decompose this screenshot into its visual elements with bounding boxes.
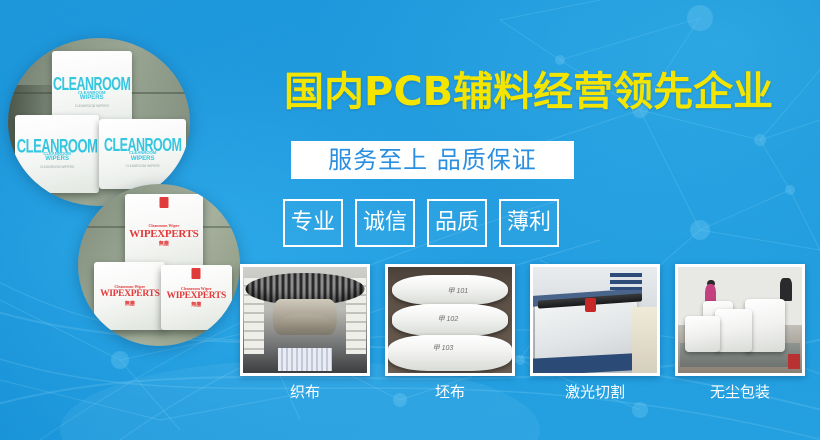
roll-handwritten-mark: 甲 103 [433, 343, 454, 353]
pack-brand-label: WIPEXPERTS [100, 290, 159, 300]
process-thumbnail-cleanroom-packing: 无尘包装 [675, 264, 805, 400]
product-photo-wipexperts: Cleanroom Wiper WIPEXPERTS 無塵 Cleanroom … [78, 184, 240, 346]
pack-brand-label: CLEANROOM [17, 135, 98, 155]
roll-handwritten-mark: 甲 102 [438, 314, 459, 324]
thumbnail-caption: 无尘包装 [675, 385, 805, 400]
laser-head [585, 298, 596, 312]
feature-tag-baoli: 薄利 [499, 199, 559, 247]
thumbnail-frame [530, 264, 660, 376]
banner-headline: 国内PCB辅料经营领先企业 [284, 72, 784, 112]
thumbnail-frame: 甲 101 甲 102 甲 103 [385, 264, 515, 376]
pack-type-label: WIPERS [80, 95, 104, 102]
wipexperts-photo-scene: Cleanroom Wiper WIPEXPERTS 無塵 Cleanroom … [78, 184, 240, 346]
wipexperts-pack: Cleanroom Wiper WIPEXPERTS 無塵 [161, 265, 232, 330]
pack-fineprint: CLEANROOM WIPERS [40, 166, 74, 170]
red-bin [788, 354, 799, 369]
promo-banner: CLEANROOM CLEANROOM WIPERS CLEANROOM WIP… [0, 0, 820, 440]
pack-brand-label: CLEANROOM [104, 136, 181, 155]
thumbnail-caption: 激光切割 [530, 385, 660, 400]
pack-red-tab [159, 197, 168, 208]
feature-tag-zhuanye: 专业 [283, 199, 343, 247]
fabric-bale [715, 309, 752, 351]
machine-lower-hub [280, 314, 330, 331]
feature-tag-label: 专业 [291, 212, 335, 234]
pack-mark-label: 無塵 [125, 302, 135, 307]
roll-handwritten-mark: 甲 101 [448, 286, 469, 296]
feature-tag-label: 品质 [435, 212, 479, 234]
control-unit [632, 307, 657, 373]
knitting-machine-photo [243, 267, 367, 373]
wipexperts-pack: Cleanroom Wiper WIPEXPERTS 無塵 [94, 262, 165, 330]
pack-fineprint: CLEANROOM WIPERS [75, 105, 109, 109]
pack-type-label: WIPERS [131, 156, 155, 163]
feature-tag-label: 诚信 [363, 212, 407, 234]
banner-subtitle-bar: 服务至上 品质保证 [291, 141, 574, 179]
cleanroom-packing-photo [678, 267, 802, 373]
pack-brand-label: CLEANROOM [53, 75, 130, 94]
feature-tag-pinzhi: 品质 [427, 199, 487, 247]
pack-brand-label: WIPEXPERTS [129, 229, 198, 240]
process-thumbnail-laser-cutting: 激光切割 [530, 264, 660, 400]
cleanroom-photo-scene: CLEANROOM CLEANROOM WIPERS CLEANROOM WIP… [8, 38, 190, 206]
worker-figure [780, 278, 792, 301]
process-thumbnail-row: 织布 甲 101 甲 102 甲 103 坯布 [240, 264, 820, 400]
fabric-rolls-photo: 甲 101 甲 102 甲 103 [388, 267, 512, 373]
cleanroom-pack: CLEANROOM CLEANROOM WIPERS CLEANROOM WIP… [99, 119, 186, 190]
fabric-bale [685, 316, 720, 352]
thumbnail-caption: 织布 [240, 385, 370, 400]
pack-type-label: WIPERS [45, 156, 69, 163]
product-photo-cleanroom-wipers: CLEANROOM CLEANROOM WIPERS CLEANROOM WIP… [8, 38, 190, 206]
process-thumbnail-weaving: 织布 [240, 264, 370, 400]
feature-tag-label: 薄利 [507, 212, 551, 234]
pack-mark-label: 無塵 [159, 242, 169, 247]
cleanroom-pack: CLEANROOM CLEANROOM WIPERS CLEANROOM WIP… [15, 115, 99, 192]
pack-brand-label: WIPEXPERTS [167, 292, 226, 302]
thumbnail-caption: 坯布 [385, 385, 515, 400]
thumbnail-frame [675, 264, 805, 376]
banner-subtitle-text: 服务至上 品质保证 [328, 148, 537, 172]
thumbnail-frame [240, 264, 370, 376]
feature-tag-list: 专业 诚信 品质 薄利 [283, 199, 559, 247]
knitted-cloth [278, 348, 333, 371]
laser-cutter-photo [533, 267, 657, 373]
pack-mark-label: 無塵 [191, 303, 201, 308]
pack-red-tab [192, 268, 201, 279]
feature-tag-chengxin: 诚信 [355, 199, 415, 247]
pack-fineprint: CLEANROOM WIPERS [126, 165, 160, 169]
process-thumbnail-greige-fabric: 甲 101 甲 102 甲 103 坯布 [385, 264, 515, 400]
